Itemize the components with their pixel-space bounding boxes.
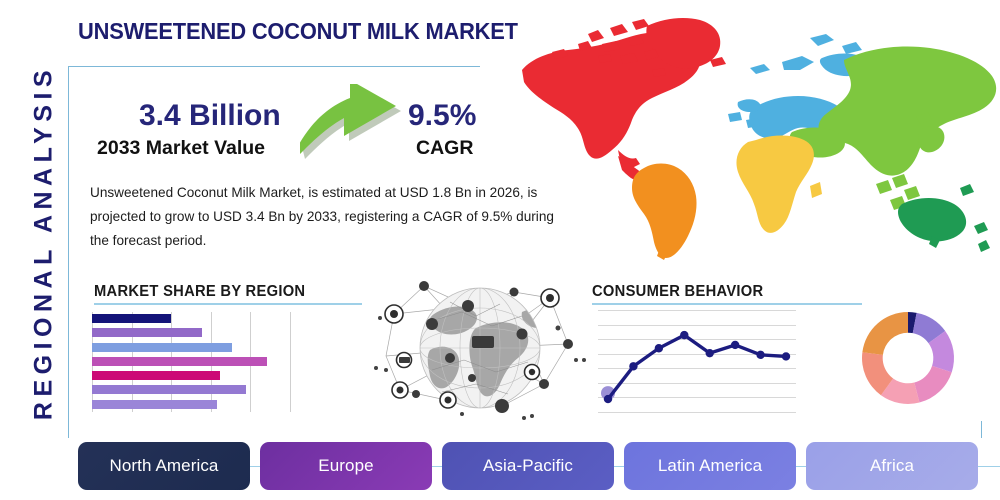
section-rule-market-share xyxy=(94,303,362,305)
world-map-icon xyxy=(492,8,1000,264)
description-text: Unsweetened Coconut Milk Market, is esti… xyxy=(90,181,560,253)
page-title: UNSWEETENED COCONUT MILK MARKET xyxy=(78,18,518,45)
bar-chart-bar xyxy=(92,385,246,394)
legend-button-label: Asia-Pacific xyxy=(483,456,573,476)
legend-connector xyxy=(250,466,260,467)
section-heading-consumer-behavior: CONSUMER BEHAVIOR xyxy=(592,283,763,301)
infographic-root: REGIONAL ANALYSIS UNSWEETENED COCONUT MI… xyxy=(0,0,1000,500)
legend-connector xyxy=(432,466,442,467)
donut-chart-segments xyxy=(856,306,960,410)
section-heading-market-share: MARKET SHARE BY REGION xyxy=(94,283,305,301)
line-chart-series xyxy=(598,310,796,412)
bar-chart-bar xyxy=(92,357,267,366)
bar-chart-bar xyxy=(92,400,217,409)
legend-button-africa[interactable]: Africa xyxy=(806,442,978,490)
section-rule-consumer-behavior xyxy=(592,303,862,305)
donut-segment xyxy=(862,312,908,355)
line-chart-gridline xyxy=(598,412,796,413)
kpi-market-value-label: 2033 Market Value xyxy=(97,137,265,160)
legend-button-asia-pacific[interactable]: Asia-Pacific xyxy=(442,442,614,490)
up-arrow-icon xyxy=(300,84,408,166)
bar-chart-bar xyxy=(92,328,202,337)
kpi-market-value-number: 3.4 Billion xyxy=(139,99,281,133)
bar-chart-bar xyxy=(92,314,171,323)
donut-segment xyxy=(914,366,951,403)
legend-button-europe[interactable]: Europe xyxy=(260,442,432,490)
kpi-cagr-number: 9.5% xyxy=(408,99,476,133)
bar-chart-bar xyxy=(92,371,220,380)
legend-button-north-america[interactable]: North America xyxy=(78,442,250,490)
legend-connector xyxy=(614,466,624,467)
donut-chart-icon xyxy=(856,306,960,410)
legend-button-latin-america[interactable]: Latin America xyxy=(624,442,796,490)
region-legend-row: North AmericaEuropeAsia-PacificLatin Ame… xyxy=(78,442,978,490)
line-chart-consumer-behavior xyxy=(598,310,796,412)
legend-button-label: North America xyxy=(109,456,218,476)
side-label-regional-analysis: REGIONAL ANALYSIS xyxy=(30,43,59,443)
bar-chart-gridline xyxy=(290,312,291,412)
legend-button-label: Africa xyxy=(870,456,914,476)
bar-chart-bar xyxy=(92,343,232,352)
legend-button-label: Latin America xyxy=(658,456,762,476)
legend-button-label: Europe xyxy=(318,456,373,476)
legend-connector xyxy=(796,466,806,467)
bar-chart-market-share xyxy=(92,312,290,412)
legend-connector-tail xyxy=(978,466,1000,467)
global-network-globe-icon xyxy=(372,272,588,424)
kpi-cagr-label: CAGR xyxy=(416,137,473,160)
